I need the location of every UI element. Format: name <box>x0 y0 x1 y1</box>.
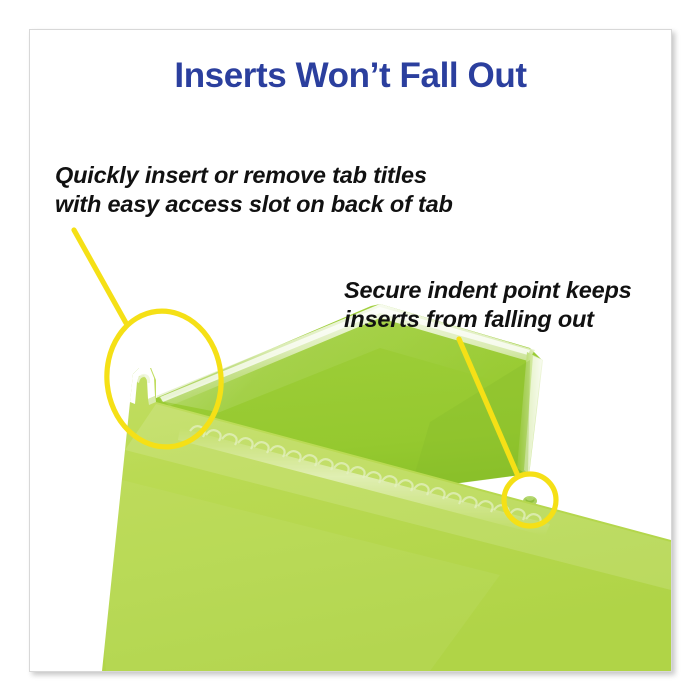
callout-caption-left-line1: Quickly insert or remove tab titles <box>55 161 453 190</box>
product-feature-image: Inserts Won’t Fall Out <box>0 0 700 700</box>
callout-caption-right: Secure indent point keeps inserts from f… <box>344 276 632 334</box>
product-photo <box>30 30 671 671</box>
callout-caption-right-line2: inserts from falling out <box>344 305 632 334</box>
callout-caption-left-line2: with easy access slot on back of tab <box>55 190 453 219</box>
callout-caption-left: Quickly insert or remove tab titles with… <box>55 161 453 219</box>
divider-illustration <box>30 30 671 671</box>
photo-card: Inserts Won’t Fall Out <box>29 29 672 672</box>
callout-caption-right-line1: Secure indent point keeps <box>344 276 632 305</box>
